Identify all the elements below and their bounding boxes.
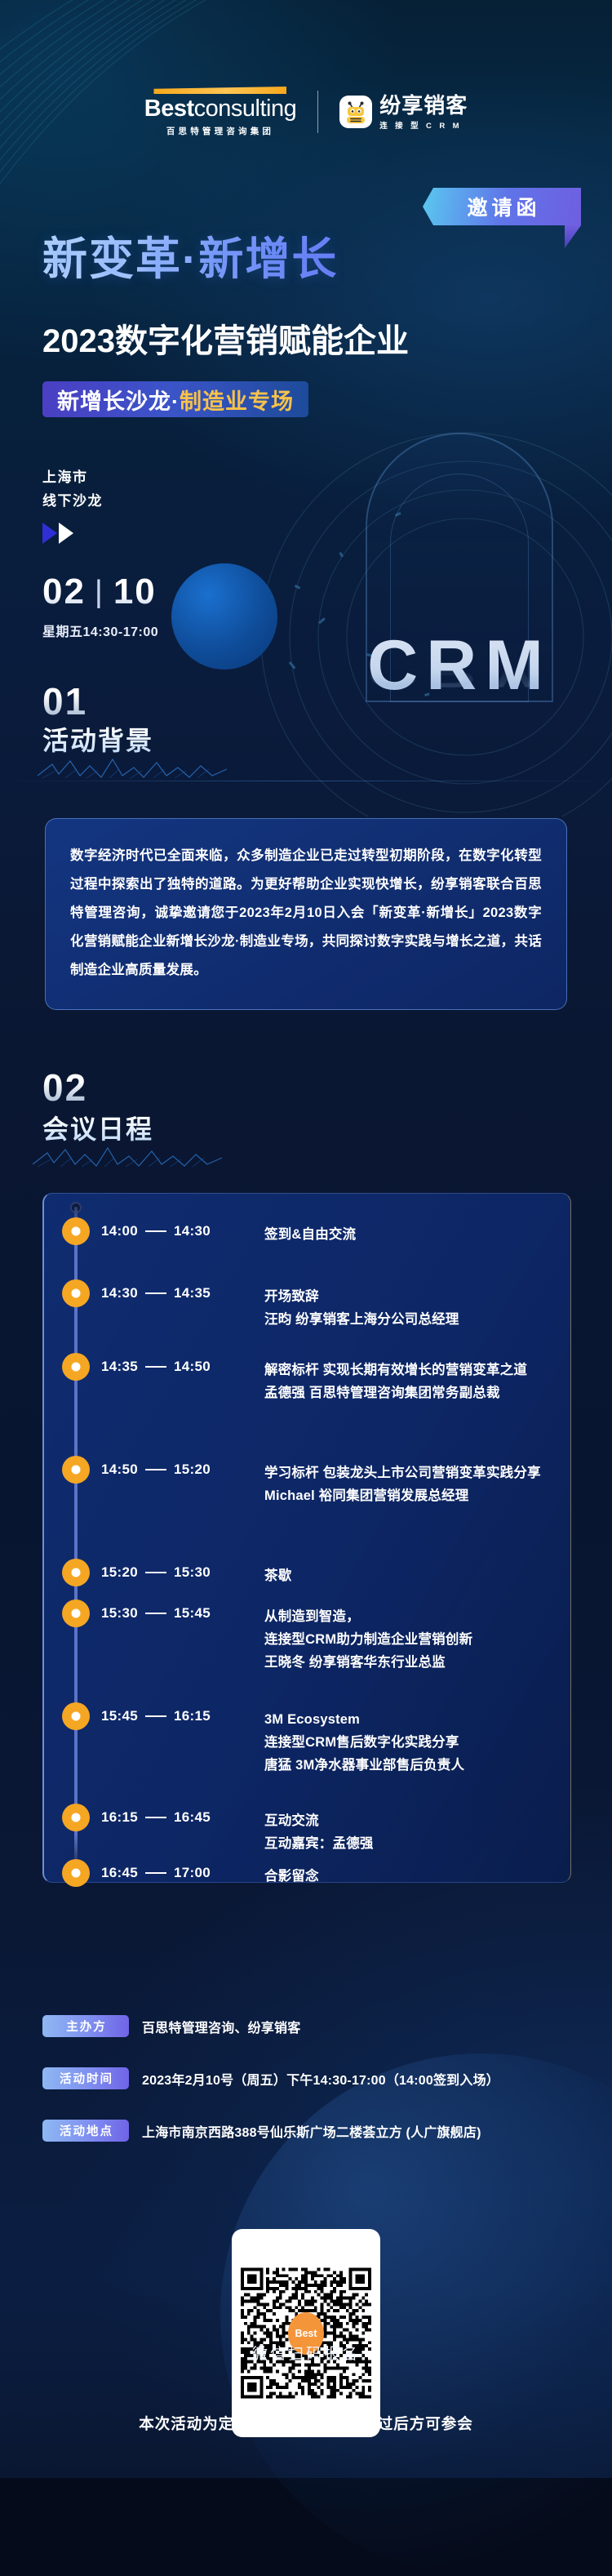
agenda-item: 14:0014:30签到&自由交流 xyxy=(62,1223,552,1246)
hero-date-separator: | xyxy=(95,575,104,610)
blue-circle-decoration xyxy=(171,563,277,670)
agenda-description: 学习标杆 包装龙头上市公司营销变革实践分享Michael 裕同集团营销发展总经理 xyxy=(264,1462,541,1507)
section-02-title: 会议日程 xyxy=(42,1109,153,1146)
agenda-start-time: 15:30 xyxy=(101,1605,138,1622)
section-02-spark-decoration xyxy=(33,1146,228,1168)
hero-band-prefix: 新增长沙龙· xyxy=(57,389,180,414)
agenda-end-time: 15:45 xyxy=(174,1605,211,1622)
agenda-description: 互动交流互动嘉宾：孟德强 xyxy=(264,1809,374,1855)
info-row: 主办方百思特管理咨询、纷享销客 xyxy=(42,2015,300,2037)
agenda-line-1: 签到&自由交流 xyxy=(264,1223,356,1246)
agenda-line-1: 解密标杆 实现长期有效增长的营销变革之道 xyxy=(264,1359,527,1381)
best-wordmark: Bestconsulting xyxy=(144,96,296,122)
agenda-line-1: 学习标杆 包装龙头上市公司营销变革实践分享 xyxy=(264,1462,541,1484)
fxiaoke-text: 纷享销客 连 接 型 C R M xyxy=(379,94,468,131)
agenda-line-2: 连接型CRM售后数字化实践分享 xyxy=(264,1731,464,1754)
agenda-time-dash-icon xyxy=(145,1366,166,1368)
section-02-number: 02 xyxy=(42,1066,87,1110)
hero-band-text: 新增长沙龙·制造业专场 xyxy=(57,384,294,416)
best-word-bold: Best xyxy=(144,96,194,122)
best-gold-bar-icon xyxy=(153,87,286,94)
qr-code-card[interactable]: Best xyxy=(232,2229,380,2437)
best-logo-subtitle: 百思特管理咨询集团 xyxy=(166,125,274,137)
agenda-bullet-icon xyxy=(62,1702,90,1730)
arrow-left-icon xyxy=(42,523,57,544)
info-row: 活动时间2023年2月10号（周五）下午14:30-17:00（14:00签到入… xyxy=(42,2067,499,2089)
agenda-bullet-icon xyxy=(62,1559,90,1586)
play-arrows-icon xyxy=(42,523,73,544)
agenda-item: 14:5015:20学习标杆 包装龙头上市公司营销变革实践分享Michael 裕… xyxy=(62,1462,552,1507)
agenda-time-dash-icon xyxy=(145,1469,166,1470)
agenda-time: 14:3014:35 xyxy=(101,1285,264,1301)
agenda-time: 16:1516:45 xyxy=(101,1809,264,1826)
agenda-time-dash-icon xyxy=(145,1872,166,1874)
hero-date-month: 02 xyxy=(42,572,86,612)
footnote: 本次活动为定向邀约，报名审核通过后方可参会 xyxy=(0,2413,612,2434)
invitation-ribbon: 邀请函 xyxy=(423,188,581,225)
agenda-line-2: Michael 裕同集团营销发展总经理 xyxy=(264,1484,541,1507)
info-value: 2023年2月10号（周五）下午14:30-17:00（14:00签到入场） xyxy=(142,2069,499,2089)
agenda-line-1: 开场致辞 xyxy=(264,1285,459,1308)
info-label-chip: 活动地点 xyxy=(42,2120,129,2142)
arrow-right-icon xyxy=(59,523,73,544)
hero-title-main: 新变革·新增长 xyxy=(42,222,338,287)
info-label-chip: 活动时间 xyxy=(42,2067,129,2089)
hero-title-band: 新增长沙龙·制造业专场 xyxy=(42,381,308,417)
agenda-start-time: 14:35 xyxy=(101,1359,138,1375)
fxiaoke-name: 纷享销客 xyxy=(379,94,468,117)
agenda-end-time: 15:30 xyxy=(174,1564,211,1581)
agenda-line-3: 王晓冬 纷享销客华东行业总监 xyxy=(264,1651,472,1674)
fxiaoke-subtitle: 连 接 型 C R M xyxy=(379,119,468,131)
agenda-bullet-icon xyxy=(62,1353,90,1381)
agenda-item: 15:2015:30茶歇 xyxy=(62,1564,552,1587)
fxiaoke-logo: 纷享销客 连 接 型 C R M xyxy=(339,94,468,131)
background-paragraph: 数字经济时代已全面来临，众多制造企业已走过转型初期阶段，在数字化转型过程中探索出… xyxy=(70,842,542,985)
bee-icon xyxy=(344,100,367,125)
agenda-end-time: 16:45 xyxy=(174,1809,211,1826)
agenda-start-time: 14:50 xyxy=(101,1462,138,1478)
info-row: 活动地点上海市南京西路388号仙乐斯广场二楼荟立方 (人广旗舰店) xyxy=(42,2120,481,2142)
agenda-line-2: 连接型CRM助力制造企业营销创新 xyxy=(264,1628,472,1651)
hero-date-day: 10 xyxy=(113,572,157,612)
agenda-line-1: 合影留念 xyxy=(264,1865,319,1888)
agenda-line-1: 茶歇 xyxy=(264,1564,291,1587)
agenda-description: 茶歇 xyxy=(264,1564,291,1587)
agenda-end-time: 16:15 xyxy=(174,1708,211,1724)
hero-band-highlight: 制造业专场 xyxy=(180,389,294,414)
agenda-end-time: 17:00 xyxy=(174,1865,211,1881)
agenda-start-time: 14:30 xyxy=(101,1285,138,1301)
background-paragraph-card: 数字经济时代已全面来临，众多制造企业已走过转型初期阶段，在数字化转型过程中探索出… xyxy=(45,818,567,1010)
divider-line xyxy=(0,781,612,781)
agenda-start-time: 15:45 xyxy=(101,1708,138,1724)
hero-city: 上海市 xyxy=(42,465,103,489)
agenda-line-1: 从制造到智造， xyxy=(264,1605,472,1628)
agenda-line-1: 互动交流 xyxy=(264,1809,374,1832)
agenda-description: 合影留念 xyxy=(264,1865,319,1888)
agenda-description: 解密标杆 实现长期有效增长的营销变革之道孟德强 百思特管理咨询集团常务副总裁 xyxy=(264,1359,527,1404)
agenda-time-dash-icon xyxy=(145,1292,166,1294)
agenda-bullet-icon xyxy=(62,1804,90,1831)
agenda-start-time: 16:15 xyxy=(101,1809,138,1826)
best-word-light: consulting xyxy=(194,96,297,122)
agenda-bullet-icon xyxy=(62,1599,90,1627)
agenda-time: 15:4516:15 xyxy=(101,1708,264,1724)
agenda-item: 15:4516:153M Ecosystem连接型CRM售后数字化实践分享唐猛 … xyxy=(62,1708,552,1777)
agenda-bullet-icon xyxy=(62,1217,90,1245)
agenda-end-time: 14:30 xyxy=(174,1223,211,1239)
hero-mode: 线下沙龙 xyxy=(42,489,103,513)
agenda-end-time: 14:35 xyxy=(174,1285,211,1301)
agenda-item: 14:3514:50解密标杆 实现长期有效增长的营销变革之道孟德强 百思特管理咨… xyxy=(62,1359,552,1404)
agenda-start-time: 16:45 xyxy=(101,1865,138,1881)
info-value: 百思特管理咨询、纷享销客 xyxy=(142,2017,300,2036)
agenda-bullet-icon xyxy=(62,1859,90,1887)
section-01-number: 01 xyxy=(42,679,87,723)
agenda-item: 16:4517:00合影留念 xyxy=(62,1865,552,1888)
agenda-time: 15:2015:30 xyxy=(101,1564,264,1581)
agenda-description: 从制造到智造，连接型CRM助力制造企业营销创新王晓冬 纷享销客华东行业总监 xyxy=(264,1605,472,1674)
hero-date: 02 | 10 xyxy=(42,572,157,612)
agenda-end-time: 15:20 xyxy=(174,1462,211,1478)
agenda-item: 16:1516:45互动交流互动嘉宾：孟德强 xyxy=(62,1809,552,1855)
section-01-spark-decoration xyxy=(38,758,233,779)
agenda-time-dash-icon xyxy=(145,1572,166,1573)
agenda-time-dash-icon xyxy=(145,1715,166,1717)
info-value: 上海市南京西路388号仙乐斯广场二楼荟立方 (人广旗舰店) xyxy=(142,2121,481,2141)
agenda-line-2: 汪昀 纷享销客上海分公司总经理 xyxy=(264,1308,459,1331)
agenda-item: 14:3014:35开场致辞汪昀 纷享销客上海分公司总经理 xyxy=(62,1285,552,1331)
qr-caption: 微信扫码报名 xyxy=(0,2342,612,2364)
agenda-line-1: 3M Ecosystem xyxy=(264,1708,464,1731)
agenda-end-time: 14:50 xyxy=(174,1359,211,1375)
info-label-chip: 主办方 xyxy=(42,2015,129,2037)
agenda-time-dash-icon xyxy=(145,1817,166,1818)
logo-bar: Bestconsulting 百思特管理咨询集团 纷享销客 连 接 型 C R … xyxy=(0,87,612,137)
agenda-time: 14:3514:50 xyxy=(101,1359,264,1375)
invitation-ribbon-tail xyxy=(565,225,581,248)
agenda-time: 14:5015:20 xyxy=(101,1462,264,1478)
best-consulting-logo: Bestconsulting 百思特管理咨询集团 xyxy=(144,87,296,137)
agenda-item: 15:3015:45从制造到智造，连接型CRM助力制造企业营销创新王晓冬 纷享销… xyxy=(62,1605,552,1674)
hero-city-block: 上海市 线下沙龙 xyxy=(42,465,103,513)
agenda-bullet-icon xyxy=(62,1279,90,1307)
agenda-time: 14:0014:30 xyxy=(101,1223,264,1239)
fxiaoke-bee-badge-icon xyxy=(339,96,372,128)
agenda-start-time: 14:00 xyxy=(101,1223,138,1239)
section-01-title: 活动背景 xyxy=(42,720,153,758)
agenda-description: 开场致辞汪昀 纷享销客上海分公司总经理 xyxy=(264,1285,459,1331)
hero-title-sub: 2023数字化营销赋能企业 xyxy=(42,314,409,362)
agenda-start-time: 15:20 xyxy=(101,1564,138,1581)
agenda-time: 16:4517:00 xyxy=(101,1865,264,1881)
logo-divider xyxy=(317,91,318,133)
hero-date-detail: 星期五14:30-17:00 xyxy=(42,621,158,640)
agenda-line-2: 互动嘉宾：孟德强 xyxy=(264,1832,374,1855)
agenda-time-dash-icon xyxy=(145,1613,166,1614)
agenda-bullet-icon xyxy=(62,1456,90,1484)
agenda-line-2: 孟德强 百思特管理咨询集团常务副总裁 xyxy=(264,1381,527,1404)
agenda-description: 3M Ecosystem连接型CRM售后数字化实践分享唐猛 3M净水器事业部售后… xyxy=(264,1708,464,1777)
agenda-line-3: 唐猛 3M净水器事业部售后负责人 xyxy=(264,1754,464,1777)
qr-code-image: Best xyxy=(241,2238,371,2428)
agenda-time: 15:3015:45 xyxy=(101,1605,264,1622)
agenda-description: 签到&自由交流 xyxy=(264,1223,356,1246)
crm-art-reflection: CRM xyxy=(325,667,594,699)
agenda-time-dash-icon xyxy=(145,1230,166,1232)
